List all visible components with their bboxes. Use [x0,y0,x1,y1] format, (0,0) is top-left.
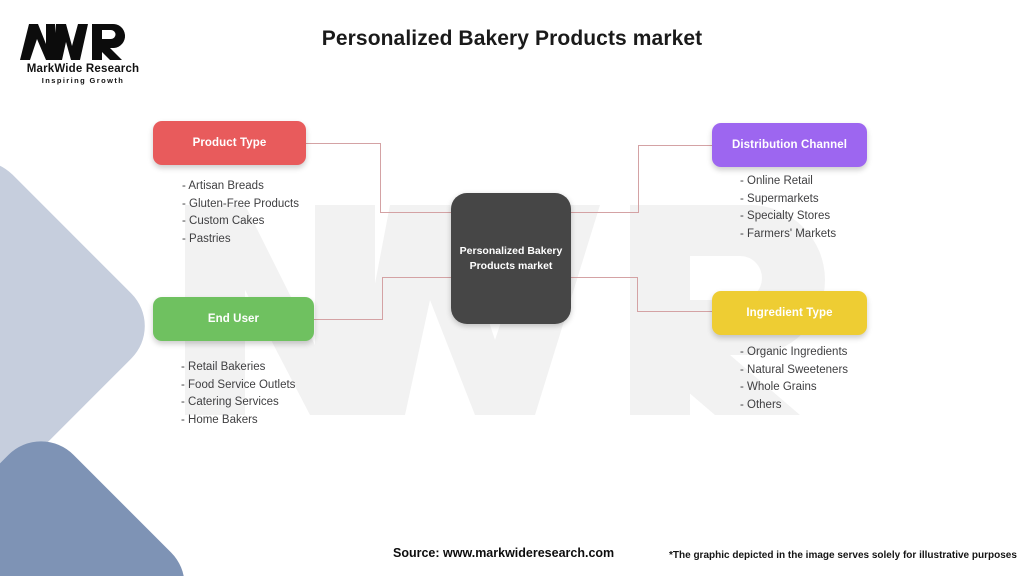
decorative-shape-dark [0,422,204,576]
center-node-label-line2: Products market [470,260,553,272]
branch-label-end-user: End User [208,313,259,325]
list-item: - Retail Bakeries [181,359,295,377]
logo-company-name: MarkWide Research [18,63,148,75]
list-item: - Home Bakers [181,412,295,430]
branch-items-end-user: - Retail Bakeries - Food Service Outlets… [181,359,295,429]
list-item: - Pastries [182,231,299,249]
connector-distribution-channel-segment-v [638,145,639,213]
branch-label-ingredient-type: Ingredient Type [746,307,832,319]
center-node[interactable]: Personalized Bakery Products market [451,193,571,324]
connector-end-user-segment-v [382,277,383,320]
diagram-canvas: MarkWide Research Inspiring Growth Perso… [0,0,1024,576]
list-item: - Supermarkets [740,191,836,209]
list-item: - Whole Grains [740,379,848,397]
center-node-label: Personalized Bakery Products market [452,244,571,272]
source-label: Source: www.markwideresearch.com [393,546,614,560]
branch-items-product-type: - Artisan Breads - Gluten-Free Products … [182,178,299,248]
connector-distribution-channel-segment-h2 [638,145,714,146]
connector-end-user-segment-h1 [314,319,383,320]
list-item: - Artisan Breads [182,178,299,196]
list-item: - Natural Sweeteners [740,362,848,380]
branch-label-distribution-channel: Distribution Channel [732,139,847,151]
list-item: - Custom Cakes [182,213,299,231]
disclaimer-text: *The graphic depicted in the image serve… [669,550,1017,561]
branch-box-end-user[interactable]: End User [153,297,314,341]
branch-label-product-type: Product Type [193,137,267,149]
list-item: - Specialty Stores [740,208,836,226]
branch-box-product-type[interactable]: Product Type [153,121,306,165]
list-item: - Food Service Outlets [181,377,295,395]
connector-ingredient-type-segment-v [637,277,638,312]
connector-ingredient-type-segment-h2 [637,311,715,312]
branch-box-ingredient-type[interactable]: Ingredient Type [712,291,867,335]
list-item: - Farmers' Markets [740,226,836,244]
branch-box-distribution-channel[interactable]: Distribution Channel [712,123,867,167]
list-item: - Gluten-Free Products [182,196,299,214]
center-node-label-line1: Personalized Bakery [460,245,563,257]
list-item: - Catering Services [181,394,295,412]
page-title: Personalized Bakery Products market [0,27,1024,51]
branch-items-ingredient-type: - Organic Ingredients - Natural Sweetene… [740,344,848,414]
list-item: - Others [740,397,848,415]
connector-product-type-segment-v [380,143,381,213]
list-item: - Organic Ingredients [740,344,848,362]
branch-items-distribution-channel: - Online Retail - Supermarkets - Special… [740,173,836,243]
logo-tagline: Inspiring Growth [18,76,148,85]
connector-product-type-segment-h1 [306,143,381,144]
list-item: - Online Retail [740,173,836,191]
